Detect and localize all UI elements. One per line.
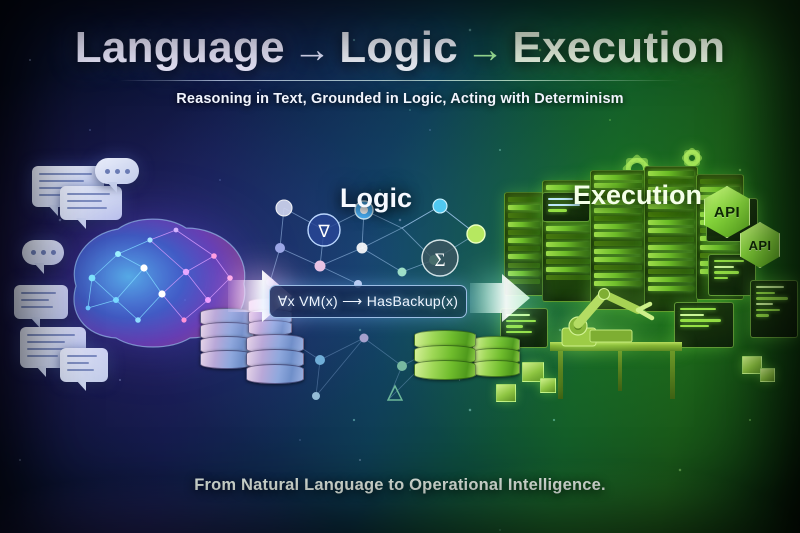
api-badge-label: API bbox=[714, 204, 740, 221]
database-stack-green bbox=[472, 336, 520, 377]
speech-bubble-dots bbox=[95, 158, 139, 184]
crate-box bbox=[496, 384, 516, 402]
gear-icon bbox=[684, 150, 700, 166]
ellipsis-dot-icon bbox=[105, 169, 110, 174]
title-divider bbox=[120, 80, 680, 81]
title-arrow-2-icon: → bbox=[458, 29, 512, 71]
panel-heading-execution: Execution bbox=[573, 180, 702, 211]
title-arrow-1-icon: → bbox=[285, 29, 339, 71]
logic-formula-text: ∀x VM(x) ⟶ HasBackup(x) bbox=[278, 293, 458, 310]
transition-arrow-2-icon bbox=[470, 272, 532, 324]
code-terminal bbox=[674, 302, 734, 348]
title-word-logic: Logic bbox=[339, 23, 458, 72]
crate-box bbox=[540, 378, 556, 393]
logic-node-sigma-symbol: Σ bbox=[434, 250, 445, 271]
workbench-leg bbox=[558, 351, 563, 399]
ellipsis-dot-icon bbox=[51, 250, 56, 255]
title-word-execution: Execution bbox=[512, 23, 725, 72]
ellipsis-dot-icon bbox=[41, 250, 46, 255]
main-title: Language→Logic→Execution bbox=[0, 24, 800, 72]
hero-illustration: Language→Logic→Execution Reasoning in Te… bbox=[0, 0, 800, 533]
title-word-language: Language bbox=[75, 23, 285, 72]
database-stack bbox=[246, 334, 304, 384]
logic-node-nabla-symbol: ∇ bbox=[317, 222, 330, 241]
crate-box bbox=[760, 368, 775, 382]
ellipsis-dot-icon bbox=[125, 169, 130, 174]
api-badge-label: API bbox=[749, 238, 772, 253]
ellipsis-dot-icon bbox=[115, 169, 120, 174]
logic-formula-box: ∀x VM(x) ⟶ HasBackup(x) bbox=[269, 285, 467, 318]
code-terminal bbox=[750, 280, 798, 338]
crate-box bbox=[742, 356, 762, 374]
subtitle: Reasoning in Text, Grounded in Logic, Ac… bbox=[0, 91, 800, 107]
database-stack-green bbox=[414, 330, 476, 380]
workbench-leg bbox=[670, 351, 675, 399]
panel-heading-logic: Logic bbox=[340, 183, 412, 214]
ellipsis-dot-icon bbox=[31, 250, 36, 255]
title-block: Language→Logic→Execution Reasoning in Te… bbox=[0, 24, 800, 107]
bottom-caption: From Natural Language to Operational Int… bbox=[0, 476, 800, 495]
workbench-leg bbox=[618, 351, 622, 391]
robot-arm-icon bbox=[560, 284, 670, 352]
